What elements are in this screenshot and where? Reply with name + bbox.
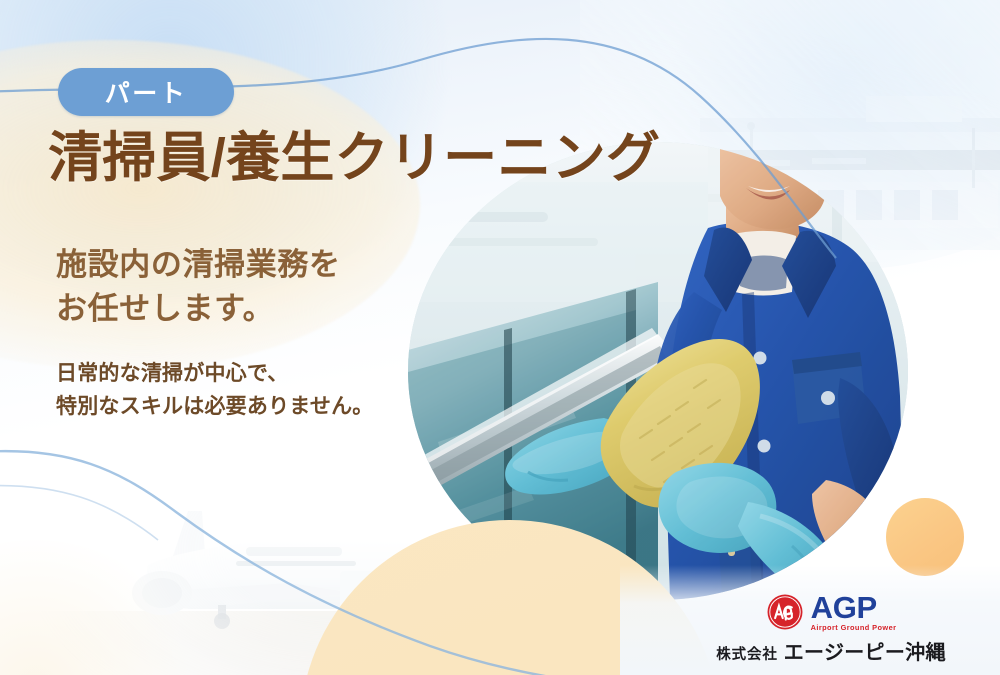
company-name-lockup: 株式会社 エージーピー沖縄 xyxy=(716,636,945,665)
logo-lockup: AGP Airport Ground Power xyxy=(766,592,897,631)
logo-brand-text: AGP xyxy=(811,592,877,623)
page-title: 清掃員/養生クリーニング xyxy=(48,128,660,188)
subheading-line-1: 施設内の清掃業務を xyxy=(56,243,341,287)
logo-wordmark: AGP Airport Ground Power xyxy=(811,592,897,631)
company-logo: AGP Airport Ground Power 株式会社 エージーピー沖縄 xyxy=(724,592,938,664)
subheading: 施設内の清掃業務を お任せします。 xyxy=(56,243,341,331)
subheading-line-2: お任せします。 xyxy=(56,287,341,331)
company-name-text: エージーピー沖縄 xyxy=(784,636,946,665)
recruitment-banner: パート 清掃員/養生クリーニング 施設内の清掃業務を お任せします。 日常的な清… xyxy=(0,0,1000,675)
logo-tagline-text: Airport Ground Power xyxy=(811,624,897,631)
body-description: 日常的な清掃が中心で、 特別なスキルは必要ありません。 xyxy=(56,358,374,424)
agp-circle-mark-icon xyxy=(766,593,804,631)
employment-type-badge: パート xyxy=(58,68,234,116)
body-line-2: 特別なスキルは必要ありません。 xyxy=(56,391,374,424)
company-prefix-text: 株式会社 xyxy=(716,643,777,664)
body-line-1: 日常的な清掃が中心で、 xyxy=(56,358,374,391)
text-content: パート 清掃員/養生クリーニング 施設内の清掃業務を お任せします。 日常的な清… xyxy=(0,0,520,675)
